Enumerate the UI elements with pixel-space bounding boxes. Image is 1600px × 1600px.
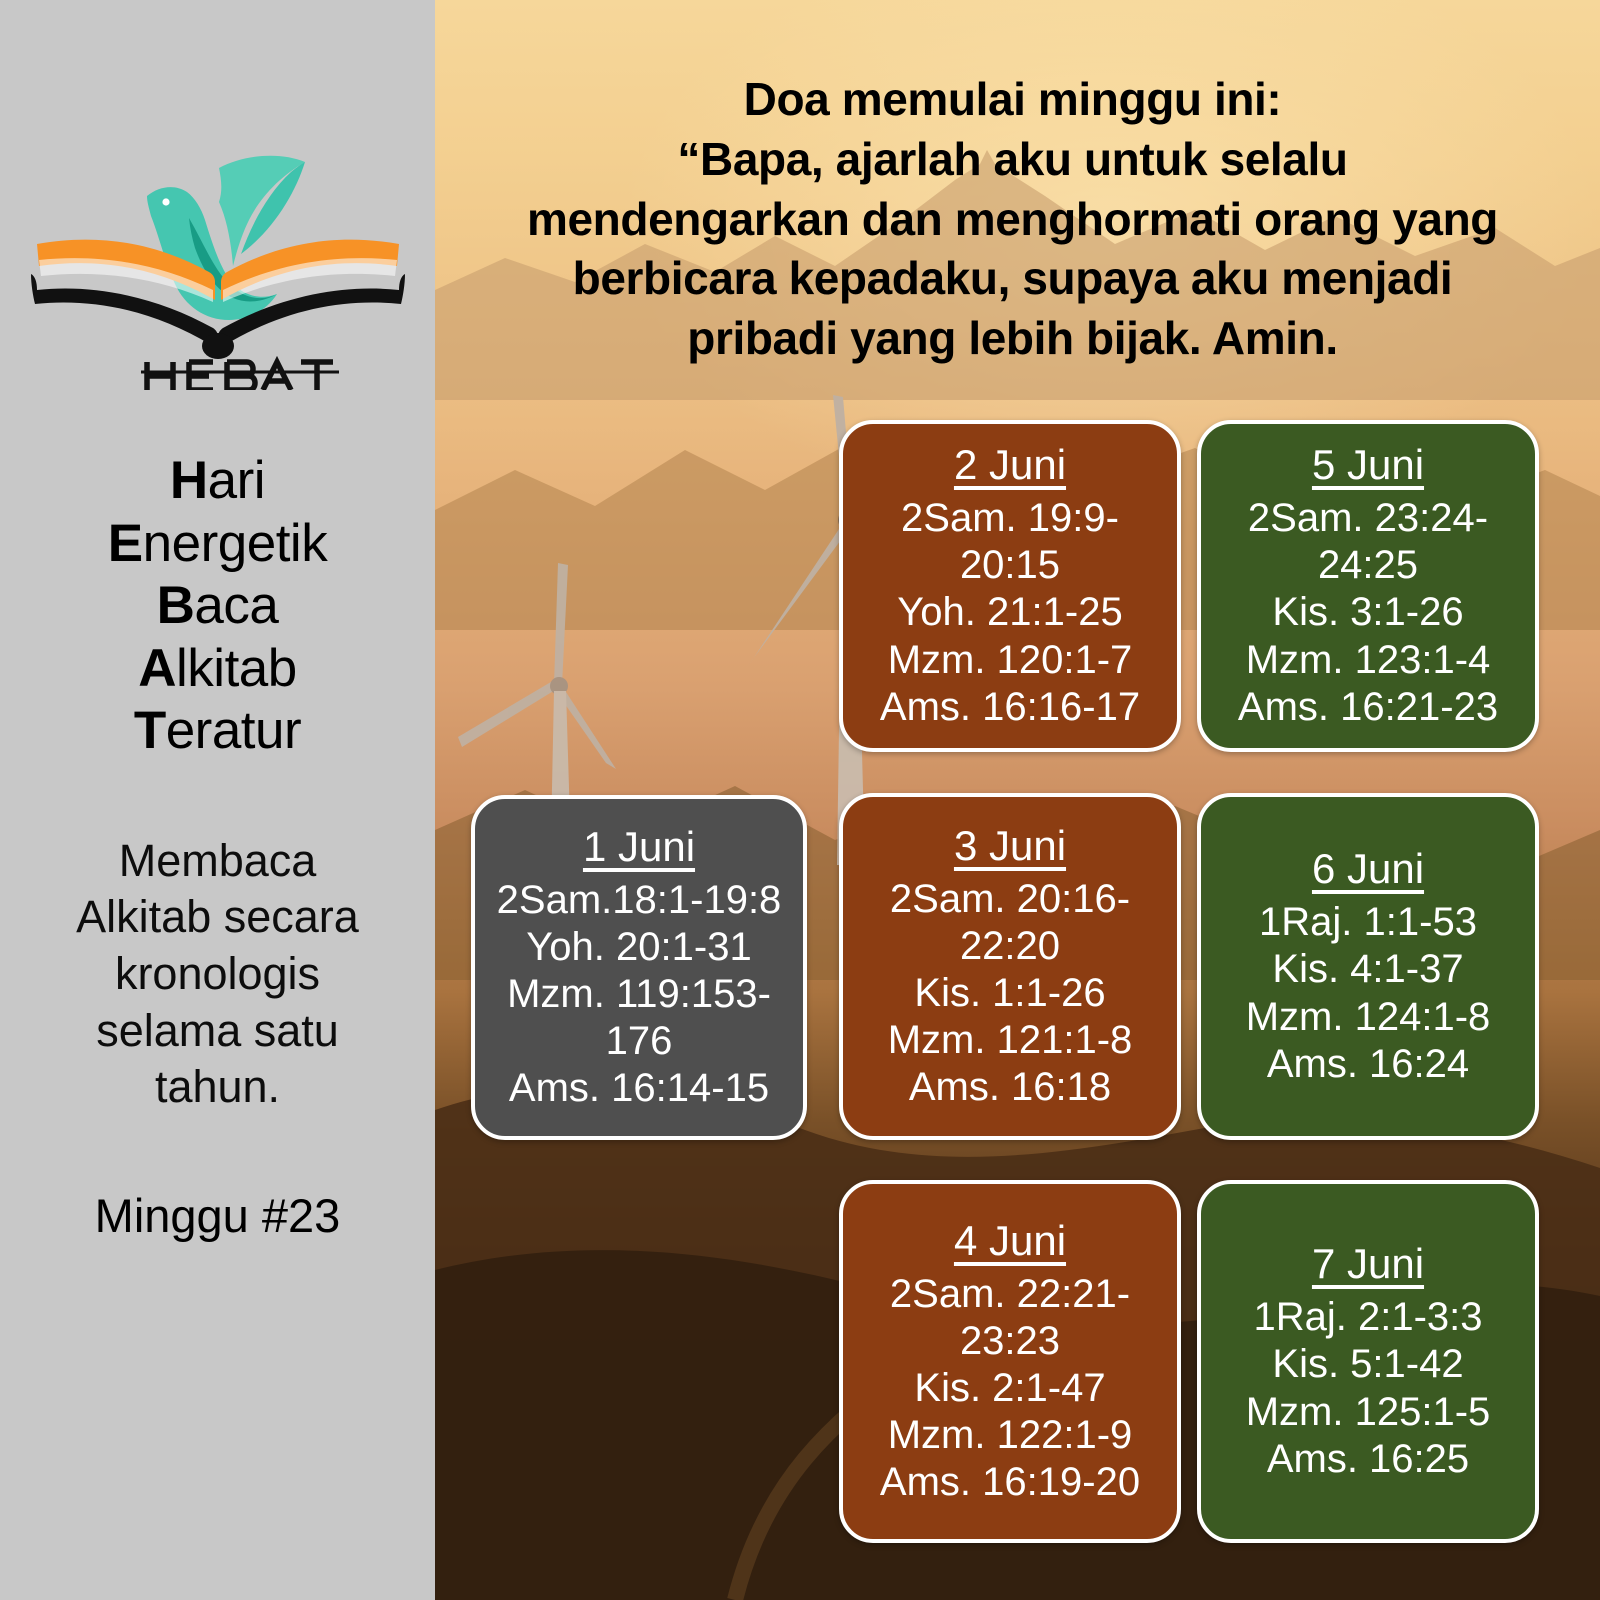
reading-card-1-juni[interactable]: 1 Juni 2Sam.18:1-19:8 Yoh. 20:1-31 Mzm. … (471, 795, 807, 1140)
card-reading: Ams. 16:25 (1267, 1436, 1469, 1483)
card-reading: Kis. 5:1-42 (1272, 1341, 1463, 1388)
acronym-line-2: Baca (108, 575, 327, 638)
card-reading: Ams. 16:14-15 (509, 1065, 769, 1112)
acronym-line-3: Alkitab (108, 638, 327, 701)
card-reading: Mzm. 123:1-4 (1246, 637, 1491, 684)
reading-card-6-juni[interactable]: 6 Juni 1Raj. 1:1-53 Kis. 4:1-37 Mzm. 124… (1197, 793, 1539, 1140)
card-reading: Kis. 4:1-37 (1272, 946, 1463, 993)
card-reading: Kis. 1:1-26 (914, 970, 1105, 1017)
card-day-label: 1 Juni (583, 823, 695, 871)
card-reading: 1Raj. 1:1-53 (1259, 899, 1477, 946)
card-reading: 2Sam. 23:24-24:25 (1213, 495, 1523, 589)
card-reading: Kis. 3:1-26 (1272, 589, 1463, 636)
card-reading: Mzm. 119:153-176 (487, 971, 791, 1065)
card-day-label: 5 Juni (1312, 441, 1424, 489)
card-reading: Yoh. 20:1-31 (526, 924, 751, 971)
program-description: Membaca Alkitab secara kronologis selama… (53, 833, 383, 1116)
card-reading: 2Sam. 22:21-23:23 (855, 1271, 1165, 1365)
card-day-label: 3 Juni (954, 822, 1066, 870)
card-day-label: 2 Juni (954, 441, 1066, 489)
card-reading: Mzm. 125:1-5 (1246, 1389, 1491, 1436)
reading-cards-grid: 1 Juni 2Sam.18:1-19:8 Yoh. 20:1-31 Mzm. … (435, 0, 1600, 1600)
hebat-logo (18, 150, 418, 400)
sidebar: Hari Energetik Baca Alkitab Teratur Memb… (0, 0, 435, 1600)
hebat-logo-icon (23, 150, 413, 390)
acronym-line-0: Hari (108, 450, 327, 513)
week-label: Minggu #23 (95, 1188, 341, 1243)
reading-card-3-juni[interactable]: 3 Juni 2Sam. 20:16-22:20 Kis. 1:1-26 Mzm… (839, 793, 1181, 1140)
card-day-label: 7 Juni (1312, 1240, 1424, 1288)
card-reading: Kis. 2:1-47 (914, 1365, 1105, 1412)
card-reading: Ams. 16:19-20 (880, 1459, 1140, 1506)
card-reading: 2Sam. 19:9-20:15 (855, 495, 1165, 589)
reading-card-5-juni[interactable]: 5 Juni 2Sam. 23:24-24:25 Kis. 3:1-26 Mzm… (1197, 420, 1539, 752)
card-reading: 2Sam.18:1-19:8 (497, 877, 782, 924)
card-reading: Mzm. 120:1-7 (888, 637, 1133, 684)
card-reading: Mzm. 124:1-8 (1246, 994, 1491, 1041)
card-reading: Ams. 16:18 (909, 1064, 1111, 1111)
card-reading: Mzm. 121:1-8 (888, 1017, 1133, 1064)
card-reading: 1Raj. 2:1-3:3 (1253, 1294, 1482, 1341)
card-reading: Yoh. 21:1-25 (897, 589, 1122, 636)
card-day-label: 4 Juni (954, 1217, 1066, 1265)
acronym-line-4: Teratur (108, 700, 327, 763)
acronym-line-1: Energetik (108, 513, 327, 576)
card-reading: Ams. 16:16-17 (880, 684, 1140, 731)
reading-card-7-juni[interactable]: 7 Juni 1Raj. 2:1-3:3 Kis. 5:1-42 Mzm. 12… (1197, 1180, 1539, 1543)
acronym-block: Hari Energetik Baca Alkitab Teratur (108, 450, 327, 763)
background-scene: Doa memulai minggu ini: “Bapa, ajarlah a… (435, 0, 1600, 1600)
card-reading: Mzm. 122:1-9 (888, 1412, 1133, 1459)
reading-card-2-juni[interactable]: 2 Juni 2Sam. 19:9-20:15 Yoh. 21:1-25 Mzm… (839, 420, 1181, 752)
reading-card-4-juni[interactable]: 4 Juni 2Sam. 22:21-23:23 Kis. 2:1-47 Mzm… (839, 1180, 1181, 1543)
card-reading: 2Sam. 20:16-22:20 (855, 876, 1165, 970)
card-reading: Ams. 16:24 (1267, 1041, 1469, 1088)
card-reading: Ams. 16:21-23 (1238, 684, 1498, 731)
card-day-label: 6 Juni (1312, 845, 1424, 893)
poster-canvas: Hari Energetik Baca Alkitab Teratur Memb… (0, 0, 1600, 1600)
